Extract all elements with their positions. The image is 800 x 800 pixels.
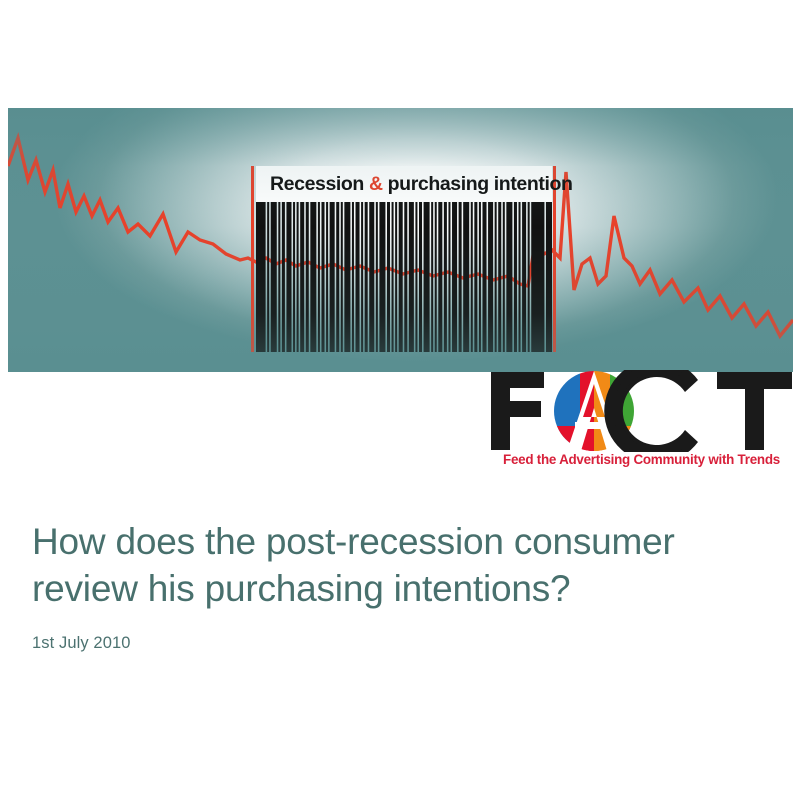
fact-wordmark: [489, 370, 794, 452]
fact-tagline: Feed the Advertising Community with Tren…: [489, 452, 794, 467]
barcode-title-prefix: Recession: [270, 173, 369, 195]
fact-logo: Feed the Advertising Community with Tren…: [489, 370, 794, 480]
title-block: How does the post-recession consumer rev…: [32, 518, 762, 653]
slide-date: 1st July 2010: [32, 612, 762, 653]
barcode-title-suffix: purchasing intention: [383, 173, 573, 195]
logo-letter-t: [717, 372, 792, 450]
logo-letter-c: [604, 370, 698, 452]
barcode-title: Recession & purchasing intention: [270, 168, 532, 200]
barcode-graphic: Recession & purchasing intention: [248, 166, 560, 352]
hero-banner: Recession & purchasing intention: [8, 108, 793, 372]
barcode-guard-left: [251, 166, 254, 352]
page-title: How does the post-recession consumer rev…: [32, 518, 762, 612]
barcode-title-ampersand: &: [369, 173, 383, 195]
logo-letter-f: [491, 372, 544, 450]
